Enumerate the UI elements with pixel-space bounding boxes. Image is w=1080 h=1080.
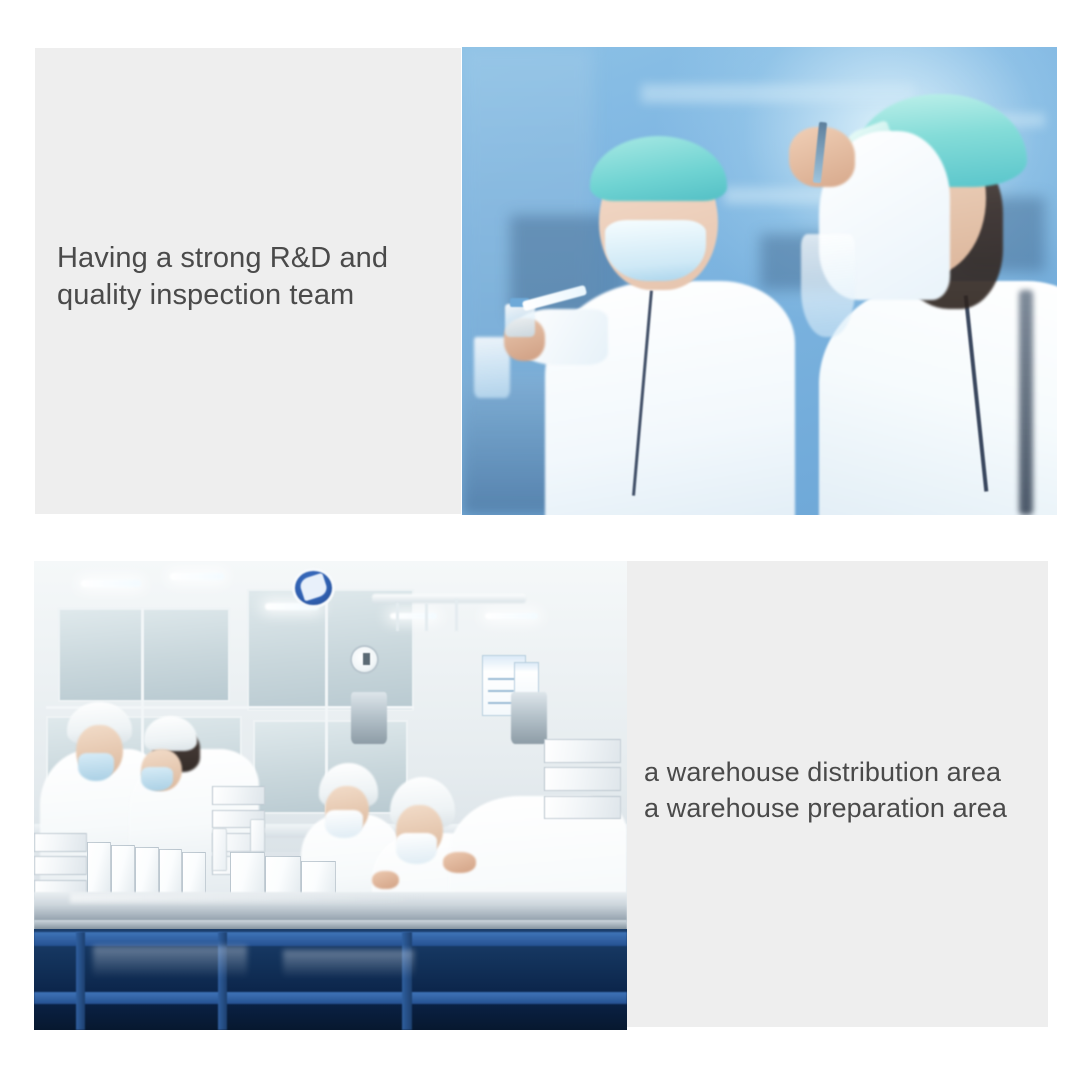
ceiling-light-b [170, 573, 223, 580]
ceiling-duct [372, 594, 526, 603]
worker-3-face-mask-icon [325, 810, 364, 838]
worker-1-face-mask-icon [78, 753, 114, 781]
worker-4-face-mask-icon [396, 833, 438, 863]
section-rnd-quality: Having a strong R&D and quality inspecti… [0, 0, 1080, 530]
photo-warehouse [34, 561, 627, 1030]
floor-reflection-a [93, 946, 247, 979]
carton-stack-i [34, 856, 87, 875]
worker-5-hand [443, 852, 476, 873]
notice-text-line-b [488, 690, 515, 692]
flask-icon [801, 234, 855, 337]
carton-stack-h [34, 833, 87, 852]
table-frame-rail-bottom [34, 992, 627, 1003]
clock-hands-icon [363, 653, 370, 665]
lab-stand-pole [1019, 290, 1033, 515]
caption-rnd-quality: Having a strong R&D and quality inspecti… [57, 240, 447, 314]
page-root: Having a strong R&D and quality inspecti… [0, 0, 1080, 1080]
ceiling-hanger-b [425, 603, 428, 631]
carton-upright-2 [111, 845, 135, 897]
carton-stack-a [544, 739, 621, 762]
ceiling-light-a [81, 580, 140, 588]
ceiling-hanger-c [455, 599, 458, 632]
table-frame-rail-top [34, 932, 627, 946]
ceiling-hanger-a [396, 603, 399, 631]
stainless-container-a [351, 692, 387, 744]
stainless-container-b [511, 692, 547, 744]
carton-stack-c [544, 796, 621, 819]
carton-stack-b [544, 767, 621, 790]
worker-2-face-mask-icon [141, 767, 174, 790]
table-leg-c [402, 932, 413, 1030]
lab-shelf-upper [641, 84, 915, 103]
technician-left-face-mask-icon [605, 220, 706, 281]
carton-stack-d [212, 786, 265, 805]
carton-flat-1 [230, 852, 266, 894]
table-leg-a [76, 932, 85, 1030]
photo-rnd-quality [462, 47, 1057, 515]
caption-warehouse: a warehouse distribution area a warehous… [644, 755, 1044, 827]
carton-upright-1 [87, 842, 111, 894]
floor-reflection-b [283, 950, 413, 978]
carton-flat-2 [265, 856, 301, 896]
ceiling-light-e [485, 613, 538, 619]
worker-4-hand [372, 871, 399, 890]
table-highlight [70, 894, 426, 903]
section-warehouse: a warehouse distribution area a warehous… [0, 530, 1080, 1080]
white-bottle-a [212, 828, 227, 870]
white-bottle-b [250, 819, 264, 852]
